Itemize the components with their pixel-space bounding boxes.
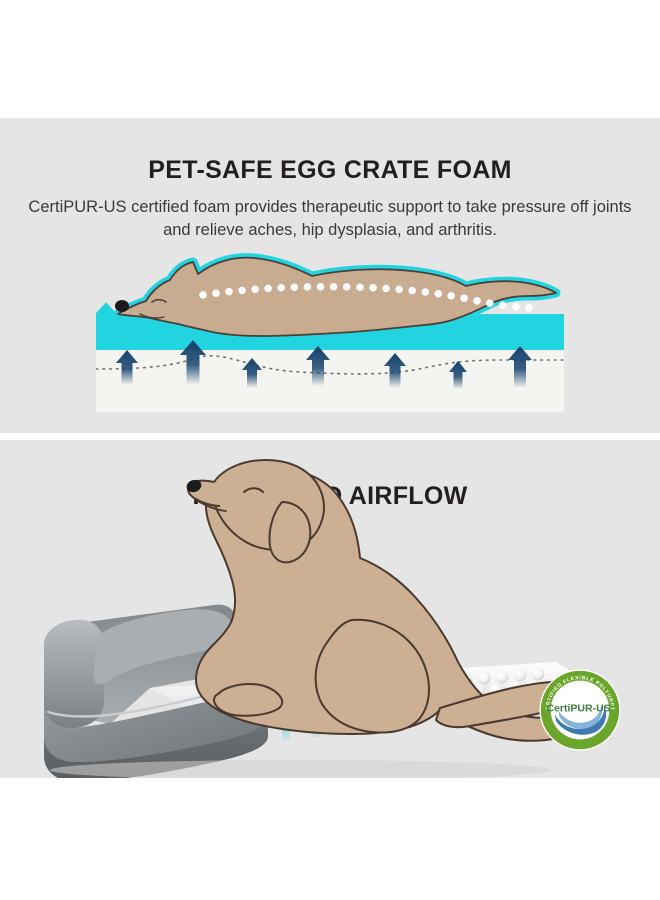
panel-divider	[0, 433, 660, 440]
certipur-us-badge: CONTAINS CERTIFIED FLEXIBLE POLYURETHANE…	[538, 668, 622, 752]
dog-front-leg	[214, 684, 282, 716]
panel-pet-safe-foam: PET-SAFE EGG CRATE FOAM CertiPUR-US cert…	[0, 118, 660, 433]
foam-cross-section-illustration	[0, 118, 660, 433]
infographic-canvas: PET-SAFE EGG CRATE FOAM CertiPUR-US cert…	[0, 0, 660, 900]
badge-center-text: CertiPUR-US	[547, 702, 611, 714]
dog-nose	[115, 300, 129, 312]
